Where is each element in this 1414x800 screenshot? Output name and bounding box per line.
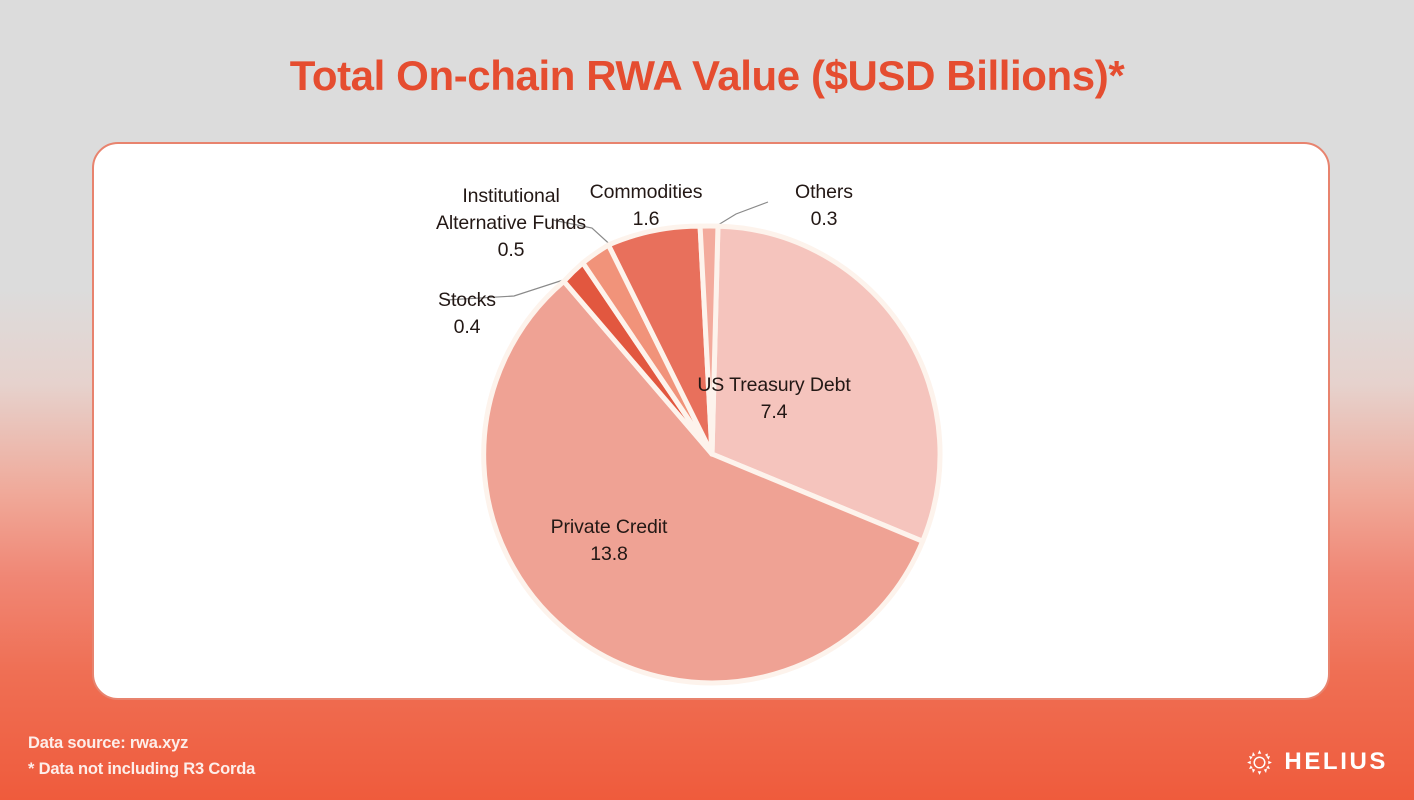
- slice-label-private-credit: Private Credit 13.8: [494, 514, 724, 568]
- slice-label-text-private-credit: Private Credit: [551, 516, 668, 538]
- data-source-note: Data source: rwa.xyz: [28, 730, 255, 756]
- slice-label-text-others: Others: [795, 181, 853, 203]
- slice-label-text-commodities: Commodities: [590, 181, 703, 203]
- slice-value-others: 0.3: [744, 206, 904, 233]
- slice-label-commodities: Commodities 1.6: [556, 179, 736, 233]
- slice-value-stocks: 0.4: [392, 314, 542, 341]
- slice-value-private-credit: 13.8: [494, 541, 724, 568]
- slice-value-us-treasury-debt: 7.4: [646, 399, 902, 426]
- brand-logo: HELIUS: [1246, 748, 1388, 776]
- pie-slices: [484, 226, 940, 683]
- slice-label-stocks: Stocks 0.4: [392, 287, 542, 341]
- slice-value-commodities: 1.6: [556, 206, 736, 233]
- footer-notes: Data source: rwa.xyz * Data not includin…: [28, 730, 255, 782]
- brand-name: HELIUS: [1284, 748, 1388, 776]
- slice-value-institutional-alternative-funds: 0.5: [386, 237, 636, 264]
- helius-sun-icon: [1246, 749, 1273, 776]
- slice-label-text-institutional-line1: Institutional: [462, 185, 559, 207]
- slice-label-text-us-treasury-debt: US Treasury Debt: [697, 374, 850, 396]
- page-title: Total On-chain RWA Value ($USD Billions)…: [0, 52, 1414, 100]
- chart-card: Institutional Alternative Funds 0.5 Comm…: [92, 142, 1330, 700]
- slice-label-text-stocks: Stocks: [438, 289, 496, 311]
- disclaimer-note: * Data not including R3 Corda: [28, 756, 255, 782]
- slice-label-us-treasury-debt: US Treasury Debt 7.4: [646, 372, 902, 426]
- slice-label-others: Others 0.3: [744, 179, 904, 233]
